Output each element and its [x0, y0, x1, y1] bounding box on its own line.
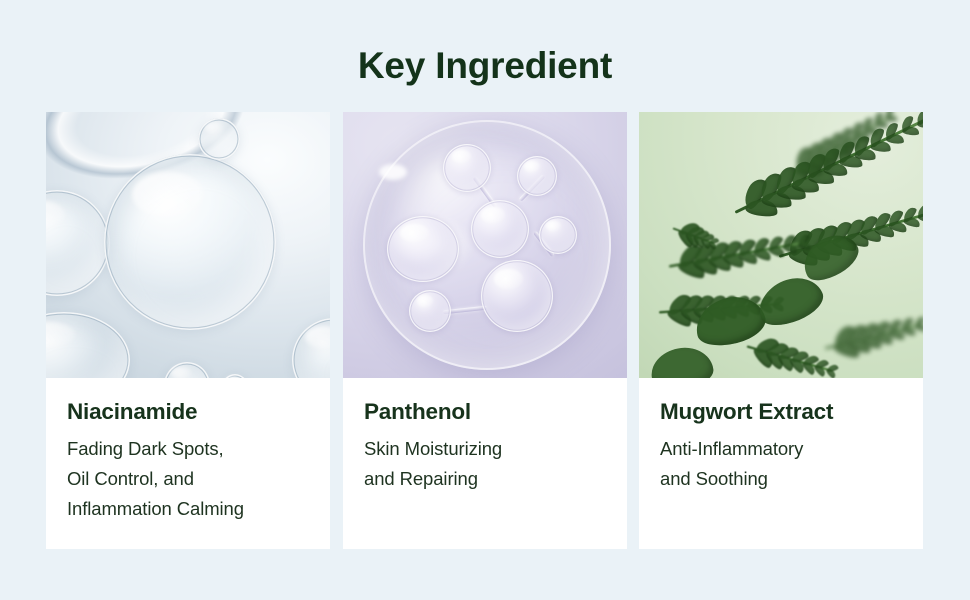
description-line: Inflammation Calming	[67, 494, 309, 524]
description-line: and Repairing	[364, 464, 606, 494]
card-body: Niacinamide Fading Dark Spots, Oil Contr…	[46, 378, 330, 524]
leaf-frond	[746, 343, 833, 373]
bubble-bottom-tiny	[222, 374, 248, 378]
description-line: Fading Dark Spots,	[67, 434, 309, 464]
mugwort-leaves-photo	[639, 112, 923, 378]
molecule-node-center	[471, 200, 529, 258]
leaf-frond	[824, 321, 921, 351]
ingredient-card-niacinamide[interactable]: Niacinamide Fading Dark Spots, Oil Contr…	[46, 112, 330, 549]
bubble-left	[46, 190, 110, 296]
bubble-bottom-left	[46, 312, 130, 378]
leaflet	[863, 127, 878, 136]
molecule-node	[443, 144, 491, 192]
leaf-blade	[649, 345, 715, 378]
ingredient-title: Niacinamide	[67, 398, 309, 425]
bubble-bottom-center	[164, 362, 210, 378]
bubble-small-top	[198, 118, 240, 160]
ingredient-card-mugwort-extract[interactable]: Mugwort Extract Anti-Inflammatory and So…	[639, 112, 923, 549]
description-line: Oil Control, and	[67, 464, 309, 494]
card-body: Panthenol Skin Moisturizing and Repairin…	[343, 378, 627, 494]
molecule-node	[409, 290, 451, 332]
description-line: Skin Moisturizing	[364, 434, 606, 464]
bubble-bottom-right	[292, 318, 330, 378]
bubble-main	[104, 154, 276, 330]
card-body: Mugwort Extract Anti-Inflammatory and So…	[639, 378, 923, 494]
leaflet	[885, 115, 897, 122]
leaf-cluster	[639, 112, 923, 378]
water-oil-bubbles-photo	[46, 112, 330, 378]
lavender-molecule-sphere-photo	[343, 112, 627, 378]
ingredient-title: Mugwort Extract	[660, 398, 902, 425]
leaflet	[874, 121, 888, 129]
leaf-frond	[672, 226, 714, 246]
page-title: Key Ingredient	[0, 44, 970, 88]
leaflet	[886, 133, 905, 144]
ingredient-title: Panthenol	[364, 398, 606, 425]
ingredient-description: Fading Dark Spots, Oil Control, and Infl…	[67, 434, 309, 524]
leaflet	[901, 126, 918, 137]
ingredient-card-list: Niacinamide Fading Dark Spots, Oil Contr…	[46, 112, 925, 549]
sphere-highlight-small	[379, 164, 407, 180]
molecule-node-large	[481, 260, 553, 332]
description-line: and Soothing	[660, 464, 902, 494]
ingredient-description: Skin Moisturizing and Repairing	[364, 434, 606, 494]
molecule-node	[517, 156, 557, 196]
ingredient-description: Anti-Inflammatory and Soothing	[660, 434, 902, 494]
molecule-droplet-large	[387, 216, 459, 282]
description-line: Anti-Inflammatory	[660, 434, 902, 464]
molecule-node	[539, 216, 577, 254]
ingredient-card-panthenol[interactable]: Panthenol Skin Moisturizing and Repairin…	[343, 112, 627, 549]
